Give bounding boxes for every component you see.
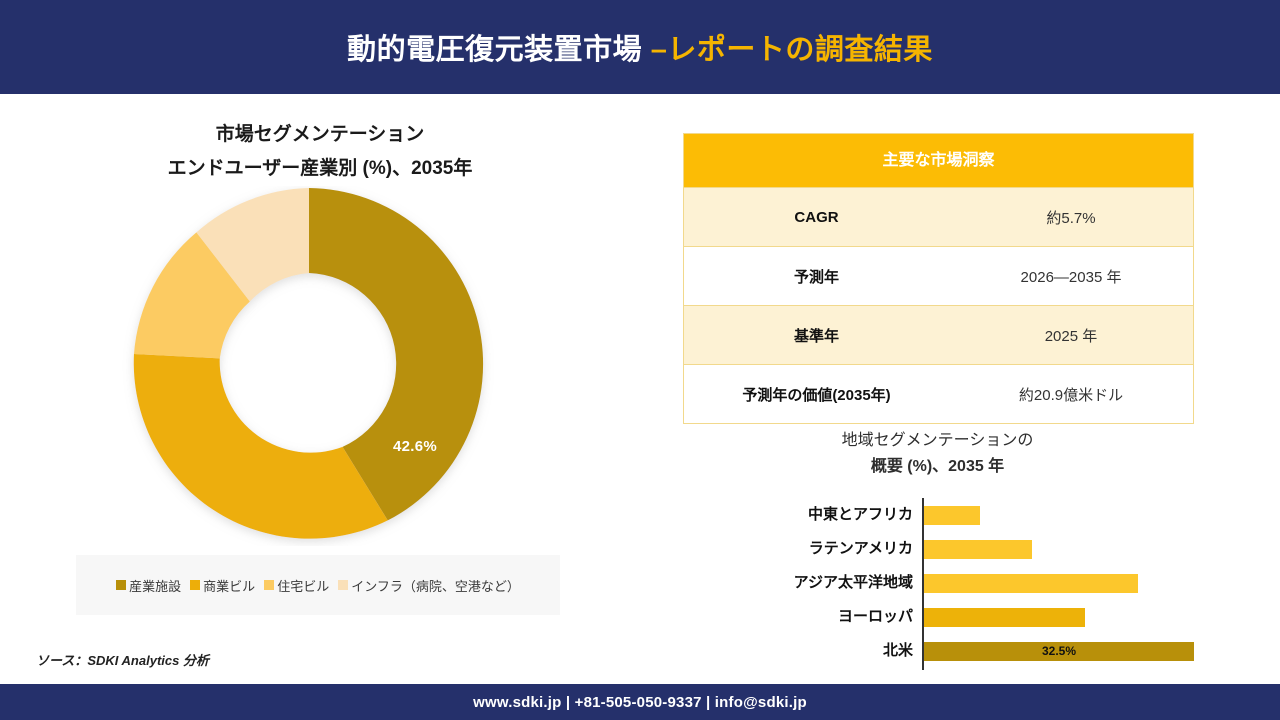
insight-key-cagr: CAGR <box>684 188 949 246</box>
donut-slices <box>134 188 483 539</box>
page-title-main: 動的電圧復元装置市場 <box>347 34 651 66</box>
donut-panel: 市場セグメンテーション エンドユーザー産業別 (%)、2035年 42.6% <box>0 94 640 654</box>
donut-slice-label-industrial: 42.6% <box>393 438 437 455</box>
legend-label-industrial: 産業施設 <box>129 576 181 595</box>
regional-title-line1: 地域セグメンテーションの <box>683 428 1192 454</box>
legend-item-infrastructure[interactable]: インフラ（病院、空港など） <box>338 576 520 595</box>
bar-label-apac: アジア太平洋地域 <box>794 566 913 600</box>
page-title-accent: –レポートの調査結果 <box>651 34 933 66</box>
regional-title-line2-text: 概要 (%)、2035 年 <box>871 458 1004 475</box>
legend-label-infrastructure: インフラ（病院、空港など） <box>351 576 520 595</box>
page-title: 動的電圧復元装置市場 –レポートの調査結果 <box>347 26 933 68</box>
bar-row-europe: ヨーロッパ <box>745 600 1205 634</box>
table-row: 予測年の価値(2035年) 約20.9億米ドル <box>684 364 1193 423</box>
legend-swatch-icon-residential <box>264 580 274 590</box>
regional-title-line2: 概要 (%)、2035 年 <box>683 454 1192 480</box>
key-insights-table: 主要な市場洞察 CAGR 約5.7% 予測年 2026—2035 年 基準年 2… <box>683 133 1194 424</box>
donut-chart-svg <box>120 186 500 546</box>
page-footer: www.sdki.jp | +81-505-050-9337 | info@sd… <box>0 684 1280 720</box>
legend-item-industrial[interactable]: 産業施設 <box>116 576 181 595</box>
insight-value-cagr: 約5.7% <box>949 188 1193 246</box>
insight-key-forecast-period: 予測年 <box>684 247 949 305</box>
table-row: 予測年 2026—2035 年 <box>684 246 1193 305</box>
insight-value-base-year: 2025 年 <box>949 306 1193 364</box>
insight-value-forecast-value: 約20.9億米ドル <box>949 365 1193 423</box>
bar-row-north-america: 北米 32.5% <box>745 634 1205 668</box>
key-insights-header: 主要な市場洞察 <box>684 134 1193 187</box>
bar-label-north-america: 北米 <box>883 634 913 668</box>
donut-title-line1: 市場セグメンテーション <box>0 118 640 152</box>
bar-row-apac: アジア太平洋地域 <box>745 566 1205 600</box>
source-note: ソース：SDKI Analytics 分析 <box>36 650 209 669</box>
bar-value-north-america: 32.5% <box>1042 642 1076 661</box>
table-row: 基準年 2025 年 <box>684 305 1193 364</box>
donut-legend: 産業施設 商業ビル 住宅ビル インフラ（病院、空港など） <box>76 555 560 615</box>
bar-row-latam: ラテンアメリカ <box>745 532 1205 566</box>
footer-contact-text[interactable]: www.sdki.jp | +81-505-050-9337 | info@sd… <box>473 694 807 711</box>
insight-key-base-year: 基準年 <box>684 306 949 364</box>
legend-item-residential[interactable]: 住宅ビル <box>264 576 329 595</box>
donut-title-line2: エンドユーザー産業別 (%)、2035年 <box>0 152 640 186</box>
bar-rect-europe[interactable] <box>924 608 1085 627</box>
legend-label-commercial: 商業ビル <box>203 576 255 595</box>
regional-bar-chart: 中東とアフリカ ラテンアメリカ アジア太平洋地域 ヨーロッパ 北米 32.5% <box>745 498 1205 670</box>
legend-label-residential: 住宅ビル <box>277 576 329 595</box>
bar-label-europe: ヨーロッパ <box>838 600 913 634</box>
bar-rect-latam[interactable] <box>924 540 1032 559</box>
bar-row-mea: 中東とアフリカ <box>745 498 1205 532</box>
page-header: 動的電圧復元装置市場 –レポートの調査結果 <box>0 0 1280 94</box>
insight-key-forecast-value: 予測年の価値(2035年) <box>684 365 949 423</box>
bar-label-latam: ラテンアメリカ <box>809 532 913 566</box>
bar-rect-apac[interactable] <box>924 574 1138 593</box>
donut-chart <box>120 186 500 546</box>
legend-swatch-icon-industrial <box>116 580 126 590</box>
table-row: CAGR 約5.7% <box>684 187 1193 246</box>
bar-rect-mea[interactable] <box>924 506 980 525</box>
legend-item-commercial[interactable]: 商業ビル <box>190 576 255 595</box>
bar-label-mea: 中東とアフリカ <box>808 498 913 532</box>
insight-value-forecast-period: 2026—2035 年 <box>949 247 1193 305</box>
legend-swatch-icon-infrastructure <box>338 580 348 590</box>
donut-chart-title: 市場セグメンテーション エンドユーザー産業別 (%)、2035年 <box>0 118 640 186</box>
regional-chart-title: 地域セグメンテーションの 概要 (%)、2035 年 <box>683 428 1192 480</box>
legend-swatch-icon-commercial <box>190 580 200 590</box>
